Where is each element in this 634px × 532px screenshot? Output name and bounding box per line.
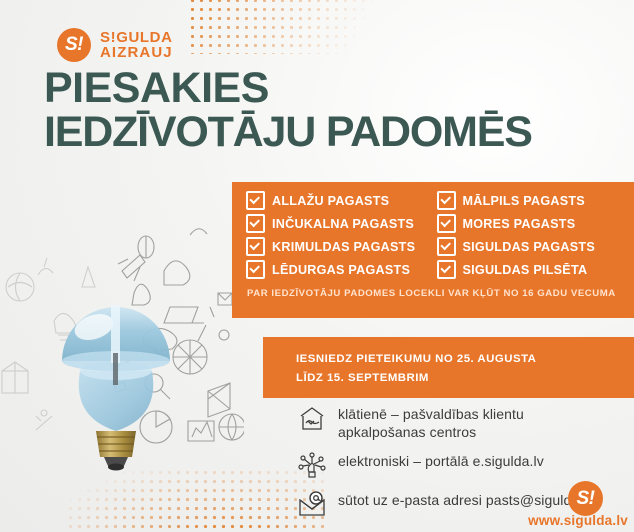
contact-line1: klātienē – pašvaldības klientu: [338, 406, 524, 422]
lightbulb-illustration: [0, 175, 244, 475]
illustration-svg: [0, 175, 244, 475]
checklist-item-label: MĀLPILS PAGASTS: [463, 194, 585, 208]
headline-line1: PIESAKIES: [44, 66, 532, 110]
house-handshake-icon: [297, 404, 327, 434]
halftone-dots-bottom: [66, 468, 326, 532]
logo-badge-icon: S!: [57, 28, 91, 62]
checklist-item[interactable]: SIGULDAS PILSĒTA: [437, 260, 622, 279]
checkbox-checked-icon: [437, 191, 456, 210]
municipalities-checklist: ALLAŽU PAGASTS MĀLPILS PAGASTS INČUKALNA…: [246, 191, 621, 279]
page-title: PIESAKIES IEDZĪVOTĀJU PADOMĒS: [44, 66, 532, 155]
checklist-item-label: SIGULDAS PILSĒTA: [463, 263, 588, 277]
website-url[interactable]: www.sigulda.lv: [528, 513, 628, 528]
checkbox-checked-icon: [246, 237, 265, 256]
poster-canvas: S! S!GULDA AIZRAUJ PIESAKIES IEDZĪVOTĀJU…: [0, 0, 634, 532]
envelope-at-icon: [297, 490, 327, 520]
checklist-item-label: SIGULDAS PAGASTS: [463, 240, 596, 254]
deadline-line1: IESNIEDZ PIETEIKUMU NO 25. AUGUSTA: [296, 350, 536, 369]
checkbox-checked-icon: [246, 214, 265, 233]
contact-method-text: klātienē – pašvaldības klientu apkalpoša…: [338, 404, 524, 442]
checklist-item[interactable]: LĒDURGAS PAGASTS: [246, 260, 431, 279]
contact-line2: apkalpošanas centros: [338, 424, 476, 440]
contact-method-text: sūtot uz e-pasta adresi pasts@sigulda: [338, 490, 579, 509]
checklist-item[interactable]: MORES PAGASTS: [437, 214, 622, 233]
deadline-text: IESNIEDZ PIETEIKUMU NO 25. AUGUSTA LĪDZ …: [296, 350, 536, 388]
deadline-panel: IESNIEDZ PIETEIKUMU NO 25. AUGUSTA LĪDZ …: [263, 337, 634, 398]
checkbox-checked-icon: [437, 214, 456, 233]
checkbox-checked-icon: [246, 260, 265, 279]
network-click-icon: [297, 451, 327, 481]
logo-wordmark: S!GULDA AIZRAUJ: [100, 30, 173, 61]
bulb-glass: [62, 305, 170, 431]
checkbox-checked-icon: [437, 237, 456, 256]
age-requirement-note: PAR IEDZĪVOTĀJU PADOMES LOCEKLI VAR KĻŪT…: [247, 288, 616, 299]
checklist-item-label: KRIMULDAS PAGASTS: [272, 240, 415, 254]
logo-wordmark-line1: S!GULDA: [100, 30, 173, 45]
checklist-item[interactable]: KRIMULDAS PAGASTS: [246, 237, 431, 256]
municipalities-panel: ALLAŽU PAGASTS MĀLPILS PAGASTS INČUKALNA…: [232, 182, 634, 318]
checklist-item-label: ALLAŽU PAGASTS: [272, 194, 389, 208]
headline-line2: IEDZĪVOTĀJU PADOMĒS: [44, 110, 532, 154]
bulb-screw-base: [96, 431, 136, 471]
footer-logo-badge-icon: S!: [568, 481, 603, 516]
checklist-item-label: LĒDURGAS PAGASTS: [272, 263, 410, 277]
checklist-item[interactable]: ALLAŽU PAGASTS: [246, 191, 431, 210]
brand-logo[interactable]: S! S!GULDA AIZRAUJ: [57, 28, 173, 62]
checklist-item[interactable]: INČUKALNA PAGASTS: [246, 214, 431, 233]
contact-method-text: elektroniski – portālā e.sigulda.lv: [338, 451, 544, 470]
contact-line1: elektroniski – portālā e.sigulda.lv: [338, 453, 544, 469]
logo-wordmark-line2: AIZRAUJ: [100, 45, 173, 60]
deadline-line2: LĪDZ 15. SEPTEMBRIM: [296, 369, 536, 388]
checklist-item-label: INČUKALNA PAGASTS: [272, 217, 414, 231]
contact-method-online[interactable]: elektroniski – portālā e.sigulda.lv: [297, 451, 634, 481]
checkbox-checked-icon: [437, 260, 456, 279]
checklist-item[interactable]: SIGULDAS PAGASTS: [437, 237, 622, 256]
contact-line1: sūtot uz e-pasta adresi pasts@sigulda: [338, 492, 579, 508]
checklist-item[interactable]: MĀLPILS PAGASTS: [437, 191, 622, 210]
contact-method-in-person[interactable]: klātienē – pašvaldības klientu apkalpoša…: [297, 404, 634, 442]
halftone-dots-top: [188, 0, 408, 54]
checkbox-checked-icon: [246, 191, 265, 210]
checklist-item-label: MORES PAGASTS: [463, 217, 576, 231]
